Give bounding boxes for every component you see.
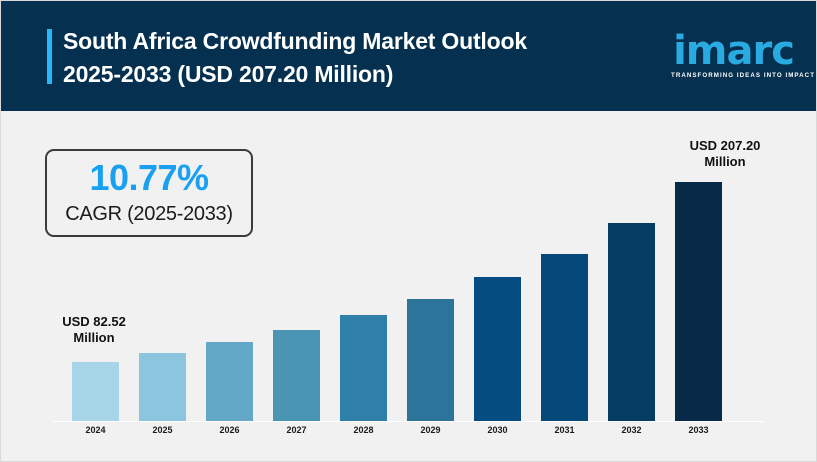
- tick-label-2033: 2033: [675, 425, 722, 435]
- bar-2031: [541, 254, 588, 421]
- bar-2026: [206, 342, 253, 421]
- bar-2029: [407, 299, 454, 421]
- tick-label-2025: 2025: [139, 425, 186, 435]
- bar-2028: [340, 315, 387, 421]
- infographic-root: South Africa Crowdfunding Market Outlook…: [0, 0, 817, 462]
- callout-last-line2: Million: [669, 154, 781, 170]
- tick-label-2024: 2024: [72, 425, 119, 435]
- bar-2024: [72, 362, 119, 421]
- bar-2033: [675, 182, 722, 421]
- tick-label-2030: 2030: [474, 425, 521, 435]
- callout-first-line2: Million: [44, 330, 144, 346]
- bar-2032: [608, 223, 655, 421]
- callout-last-line1: USD 207.20: [669, 138, 781, 154]
- callout-first-line1: USD 82.52: [44, 314, 144, 330]
- tick-label-2031: 2031: [541, 425, 588, 435]
- tick-label-2027: 2027: [273, 425, 320, 435]
- tick-label-2028: 2028: [340, 425, 387, 435]
- x-axis-line: [53, 421, 765, 422]
- tick-label-2029: 2029: [407, 425, 454, 435]
- bar-2027: [273, 330, 320, 421]
- bar-chart: 2024202520262027202820292030203120322033…: [1, 1, 817, 462]
- bar-2025: [139, 353, 186, 421]
- callout-last-value: USD 207.20 Million: [669, 138, 781, 170]
- tick-label-2026: 2026: [206, 425, 253, 435]
- tick-label-2032: 2032: [608, 425, 655, 435]
- bar-2030: [474, 277, 521, 421]
- callout-first-value: USD 82.52 Million: [44, 314, 144, 346]
